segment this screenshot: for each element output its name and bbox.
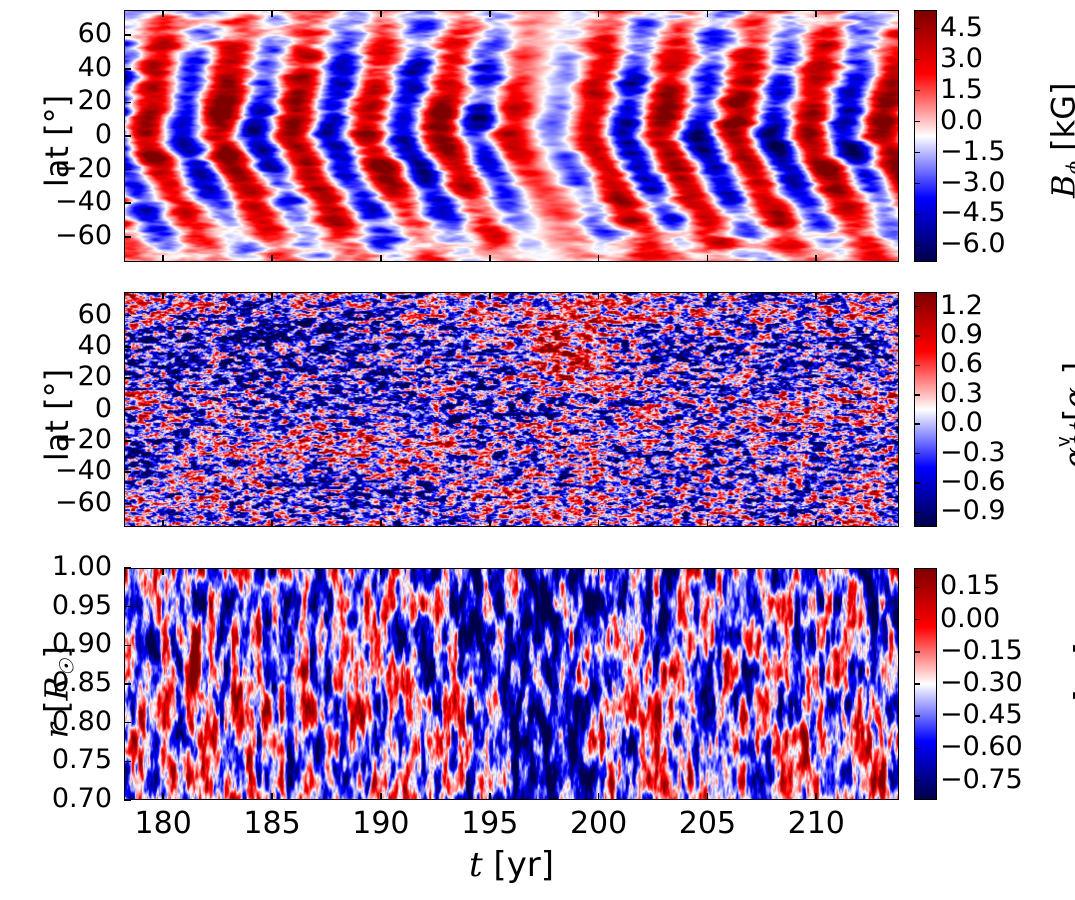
x-tick-mark	[162, 255, 164, 262]
y-tick-mark	[124, 683, 131, 685]
heatmap-panel-alpha-effect	[124, 292, 899, 527]
colorbar-tick-mark	[914, 365, 920, 367]
y-tick-label: 0.90	[16, 630, 112, 657]
colorbar-tick-label: −0.75	[940, 766, 1050, 793]
y-tick-mark	[124, 135, 131, 137]
colorbar-tick-label: 1.5	[940, 76, 1050, 103]
colorbar-tick-label: 3.0	[940, 45, 1050, 72]
x-tick-mark-top	[598, 568, 600, 575]
colorbar-tick-label: 4.5	[940, 14, 1050, 41]
x-tick-mark-top	[707, 568, 709, 575]
colorbar-tick-label: −0.3	[940, 439, 1050, 466]
colorbar-title-2: γr[α0]	[1068, 587, 1075, 797]
x-tick-mark	[380, 520, 382, 527]
x-tick-mark-top	[815, 10, 817, 17]
y-tick-mark	[124, 761, 131, 763]
heatmap-image-2	[125, 569, 898, 799]
colorbar-tick-label: −3.0	[940, 169, 1050, 196]
colorbar-tick-mark	[914, 335, 920, 337]
x-tick-mark	[707, 255, 709, 262]
x-tick-mark	[707, 520, 709, 527]
colorbar-tick-mark	[914, 651, 920, 653]
y-tick-label: 40	[16, 332, 112, 359]
y-tick-label: −60	[16, 489, 112, 516]
colorbar-tick-label: 0.0	[940, 409, 1050, 436]
colorbar-tick-mark	[914, 59, 920, 61]
y-tick-label: 20	[16, 363, 112, 390]
x-tick-mark	[162, 793, 164, 800]
y-tick-label: 0.95	[16, 592, 112, 619]
x-tick-mark	[489, 255, 491, 262]
colorbar-tick-mark	[914, 90, 920, 92]
x-tick-mark-top	[271, 568, 273, 575]
x-tick-mark-top	[815, 292, 817, 299]
colorbar-tick-label: −0.9	[940, 497, 1050, 524]
y-tick-mark	[124, 236, 131, 238]
colorbar-tick-label: −1.5	[940, 138, 1050, 165]
x-tick-label: 185	[217, 810, 327, 837]
x-tick-mark	[598, 520, 600, 527]
colorbar-tick-mark	[914, 512, 920, 514]
colorbar-tick-label: 0.00	[940, 605, 1050, 632]
colorbar-tick-mark	[914, 214, 920, 216]
colorbar-gradient-0	[915, 11, 936, 261]
y-tick-mark	[124, 102, 131, 104]
colorbar-tick-mark	[914, 245, 920, 247]
x-tick-mark-top	[815, 568, 817, 575]
y-tick-mark	[124, 409, 131, 411]
y-tick-mark	[124, 799, 131, 801]
y-tick-label: 1.00	[16, 553, 112, 580]
y-tick-label: 0.70	[16, 785, 112, 812]
colorbar-tick-label: −0.15	[940, 637, 1050, 664]
y-tick-mark	[124, 68, 131, 70]
y-tick-label: 0.75	[16, 746, 112, 773]
colorbar-tick-label: −4.5	[940, 199, 1050, 226]
x-tick-mark-top	[707, 10, 709, 17]
y-tick-label: −40	[16, 457, 112, 484]
colorbar-tick-mark	[914, 748, 920, 750]
y-tick-mark	[124, 377, 131, 379]
y-tick-label: −60	[16, 222, 112, 249]
colorbar-tick-mark	[914, 453, 920, 455]
y-tick-label: 0.85	[16, 669, 112, 696]
x-tick-mark	[489, 520, 491, 527]
colorbar-tick-mark	[914, 183, 920, 185]
y-tick-label: 40	[16, 54, 112, 81]
x-tick-mark	[489, 793, 491, 800]
y-tick-mark	[124, 503, 131, 505]
x-tick-mark	[271, 255, 273, 262]
colorbar-tick-label: −0.30	[940, 669, 1050, 696]
y-tick-mark	[124, 315, 131, 317]
x-tick-mark-top	[598, 292, 600, 299]
colorbar-tick-label: 0.9	[940, 321, 1050, 348]
colorbar-tick-label: 0.6	[940, 350, 1050, 377]
x-tick-mark	[815, 793, 817, 800]
x-tick-mark	[271, 793, 273, 800]
colorbar-tick-mark	[914, 152, 920, 154]
colorbar-tick-label: 0.0	[940, 107, 1050, 134]
y-tick-mark	[124, 169, 131, 171]
x-tick-label: 190	[326, 810, 436, 837]
x-tick-mark-top	[380, 568, 382, 575]
y-tick-mark	[124, 722, 131, 724]
x-tick-mark	[598, 793, 600, 800]
colorbar-tick-label: −6.0	[940, 230, 1050, 257]
y-tick-mark	[124, 567, 131, 569]
y-tick-mark	[124, 440, 131, 442]
colorbar-tick-label: −0.45	[940, 701, 1050, 728]
colorbar-tick-mark	[914, 423, 920, 425]
y-tick-mark	[124, 606, 131, 608]
colorbar-tick-label: −0.60	[940, 733, 1050, 760]
x-tick-mark-top	[489, 10, 491, 17]
colorbar-tick-mark	[914, 780, 920, 782]
colorbar-tick-label: −0.6	[940, 468, 1050, 495]
x-tick-mark-top	[380, 10, 382, 17]
x-tick-mark-top	[162, 568, 164, 575]
x-tick-label: 200	[544, 810, 654, 837]
colorbar-tick-label: 0.15	[940, 572, 1050, 599]
x-axis-title: t [yr]	[124, 845, 899, 885]
x-tick-mark-top	[598, 10, 600, 17]
x-tick-label: 195	[435, 810, 545, 837]
colorbar-tick-mark	[914, 587, 920, 589]
colorbar-tick-label: 1.2	[940, 292, 1050, 319]
x-tick-mark	[380, 255, 382, 262]
x-tick-mark	[380, 793, 382, 800]
y-tick-mark	[124, 34, 131, 36]
colorbar-title-1: αvϕϕ[α0]	[1057, 290, 1075, 540]
heatmap-image-1	[125, 293, 898, 526]
y-tick-mark	[124, 346, 131, 348]
x-tick-label: 205	[652, 810, 762, 837]
x-tick-mark	[271, 520, 273, 527]
x-tick-mark-top	[271, 292, 273, 299]
y-tick-label: 60	[16, 20, 112, 47]
colorbar-tick-mark	[914, 715, 920, 717]
x-tick-mark-top	[489, 292, 491, 299]
x-tick-label: 210	[761, 810, 871, 837]
figure-canvas: lat [°] Bϕ [kG] lat [°] αvϕϕ[α0] r [R☉] …	[0, 0, 1075, 900]
x-tick-label: 180	[108, 810, 218, 837]
x-tick-mark-top	[380, 292, 382, 299]
x-tick-mark-top	[271, 10, 273, 17]
y-tick-mark	[124, 645, 131, 647]
colorbar-tick-mark	[914, 683, 920, 685]
y-tick-label: 0.80	[16, 708, 112, 735]
colorbar-tick-label: 0.3	[940, 380, 1050, 407]
x-tick-mark-top	[707, 292, 709, 299]
x-tick-mark	[707, 793, 709, 800]
y-tick-label: 0	[16, 395, 112, 422]
colorbar-alpha-effect	[914, 292, 937, 527]
x-tick-mark	[598, 255, 600, 262]
x-tick-mark	[815, 520, 817, 527]
y-tick-label: 0	[16, 121, 112, 148]
colorbar-tick-mark	[914, 394, 920, 396]
colorbar-tick-mark	[914, 121, 920, 123]
x-tick-mark-top	[489, 568, 491, 575]
y-tick-label: −20	[16, 426, 112, 453]
heatmap-panel-radial-pumping	[124, 568, 899, 800]
colorbar-magnetic-field	[914, 10, 937, 262]
colorbar-tick-mark	[914, 306, 920, 308]
heatmap-image-0	[125, 11, 898, 261]
colorbar-tick-mark	[914, 482, 920, 484]
x-tick-mark-top	[162, 10, 164, 17]
colorbar-gradient-1	[915, 293, 936, 526]
x-tick-mark-top	[162, 292, 164, 299]
y-tick-label: −40	[16, 188, 112, 215]
y-tick-label: −20	[16, 155, 112, 182]
y-tick-mark	[124, 202, 131, 204]
x-tick-mark	[162, 520, 164, 527]
colorbar-tick-mark	[914, 619, 920, 621]
y-tick-label: 60	[16, 301, 112, 328]
y-tick-label: 20	[16, 87, 112, 114]
heatmap-panel-magnetic-field	[124, 10, 899, 262]
y-tick-mark	[124, 471, 131, 473]
colorbar-tick-mark	[914, 28, 920, 30]
x-tick-mark	[815, 255, 817, 262]
